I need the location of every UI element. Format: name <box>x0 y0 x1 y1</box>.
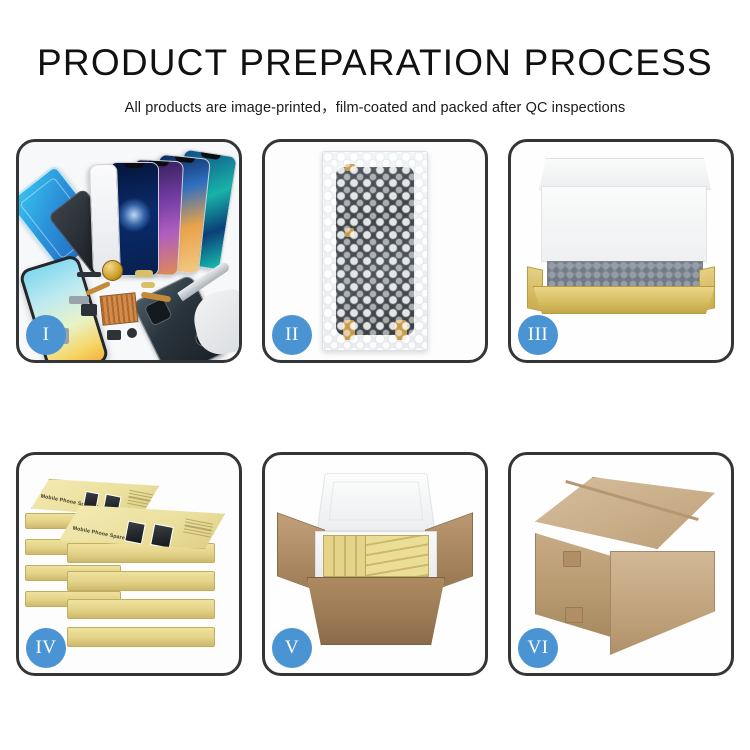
step-badge: III <box>518 315 558 355</box>
page-title: PRODUCT PREPARATION PROCESS <box>0 0 750 83</box>
carton-body-icon <box>307 577 445 645</box>
gold-clip-icon <box>141 282 155 288</box>
carton-tape-icon <box>563 551 581 567</box>
process-step-panel-3: III <box>508 139 734 363</box>
front-glass-panel-icon <box>89 164 121 275</box>
page-header: PRODUCT PREPARATION PROCESS All products… <box>0 0 750 117</box>
process-steps-grid: I II <box>16 139 734 689</box>
foam-lid-icon <box>317 473 436 531</box>
step-badge: I <box>26 315 66 355</box>
screen-graphic-icon <box>124 520 146 544</box>
spec-lines <box>127 490 154 510</box>
vibration-motor-icon <box>102 260 123 281</box>
page-subtitle: All products are image-printed，film-coat… <box>0 83 750 117</box>
circuit-board-icon <box>100 292 139 326</box>
step-badge: IV <box>26 628 66 668</box>
camera-module-icon <box>107 330 121 340</box>
carton-right-face-icon <box>610 551 715 655</box>
step-badge: II <box>272 315 312 355</box>
carton-tape-icon <box>565 607 583 623</box>
product-preparation-process-page: PRODUCT PREPARATION PROCESS All products… <box>0 0 750 750</box>
step-badge: VI <box>518 628 558 668</box>
bubble-texture-overlay <box>323 152 427 350</box>
process-step-panel-6: VI <box>508 452 734 676</box>
stacked-box <box>67 627 215 647</box>
button-part-icon <box>127 328 137 338</box>
gold-connector-icon <box>135 270 153 277</box>
stacked-box <box>67 599 215 619</box>
screen-graphic-icon <box>150 523 174 548</box>
notch-icon <box>124 163 144 168</box>
small-module-icon <box>81 304 97 316</box>
metal-bracket-icon <box>69 296 89 304</box>
packed-yellow-boxes-icon <box>365 535 429 577</box>
grey-bubble-wrap-icon <box>547 261 703 288</box>
process-step-panel-1: I <box>16 139 242 363</box>
process-step-panel-5: V <box>262 452 488 676</box>
process-step-panel-2: II <box>262 139 488 363</box>
step-badge: V <box>272 628 312 668</box>
carton-top-face-icon <box>535 477 715 549</box>
speaker-part-icon <box>77 272 101 277</box>
kraft-box-front-icon <box>533 286 715 314</box>
spec-lines <box>183 518 214 539</box>
foam-sheet-icon <box>541 186 707 262</box>
process-step-panel-4: Mobile Phone Spare Parts Mobile <box>16 452 242 676</box>
bubble-wrap-bag-icon <box>322 151 428 351</box>
stacked-box <box>67 571 215 591</box>
